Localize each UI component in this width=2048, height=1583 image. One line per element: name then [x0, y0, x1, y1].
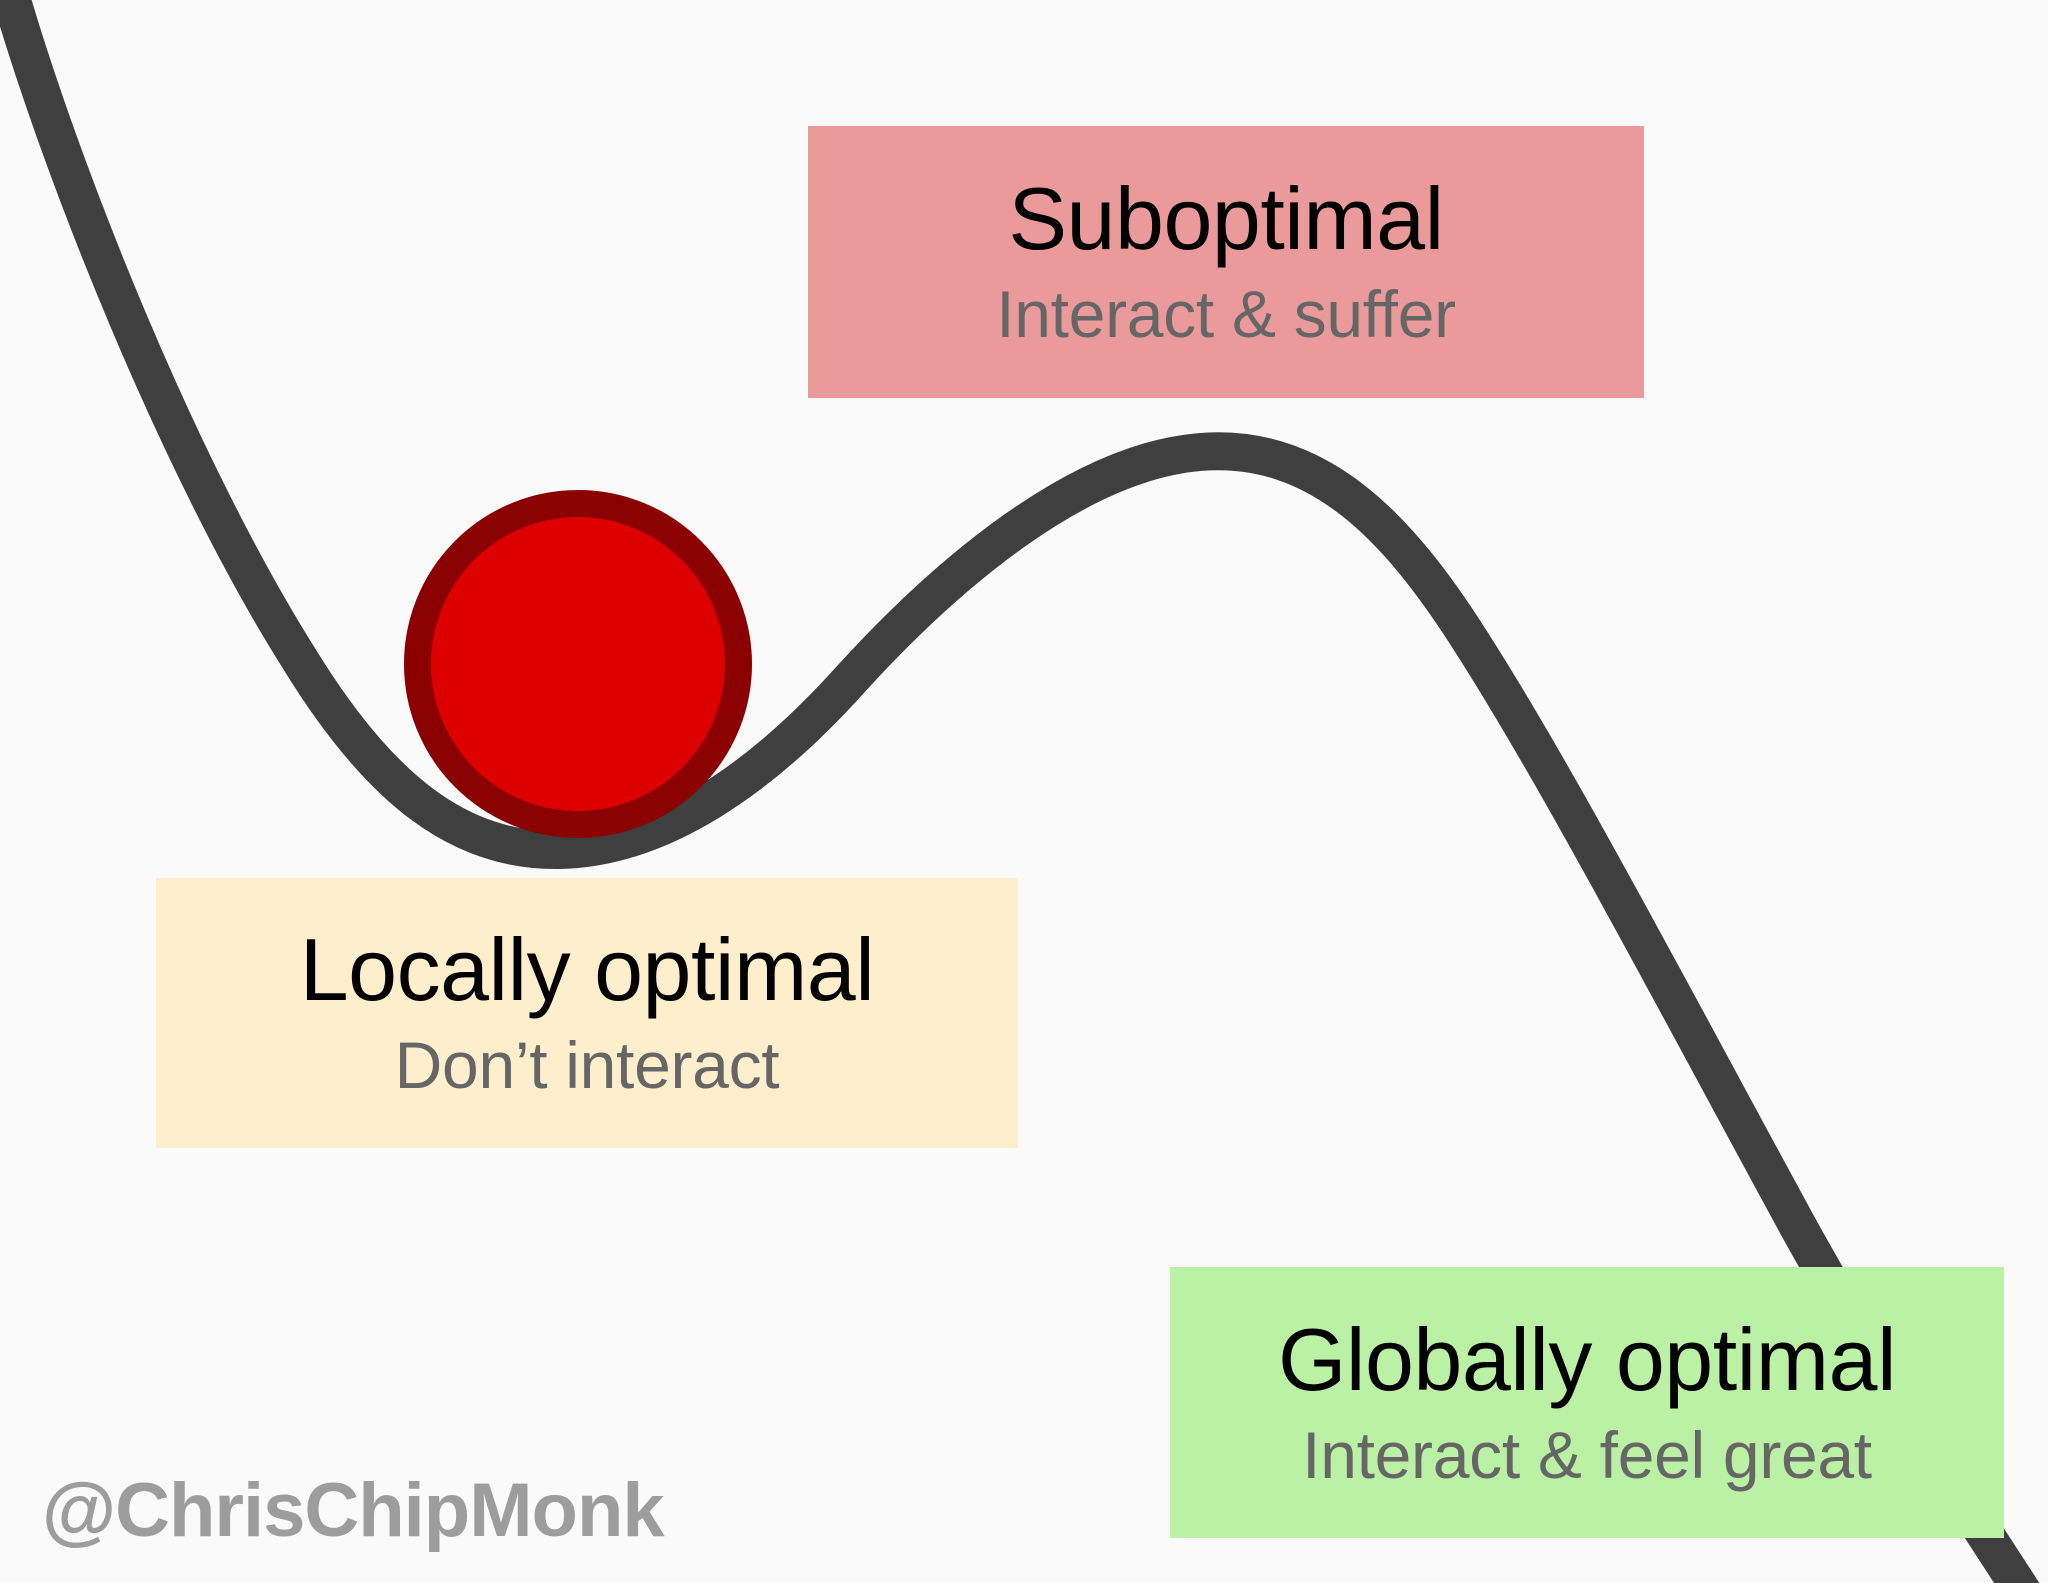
callout-locally-optimal-subtitle: Don’t interact: [395, 1031, 780, 1100]
callout-globally-optimal: Globally optimal Interact & feel great: [1170, 1267, 2004, 1538]
callout-locally-optimal-title: Locally optimal: [300, 925, 875, 1015]
author-watermark: @ChrisChipMonk: [42, 1467, 664, 1554]
figure-canvas: Suboptimal Interact & suffer Locally opt…: [0, 0, 2048, 1583]
callout-suboptimal-subtitle: Interact & suffer: [996, 280, 1456, 349]
callout-globally-optimal-subtitle: Interact & feel great: [1302, 1421, 1872, 1490]
red-ball-marker: [404, 490, 752, 838]
callout-globally-optimal-title: Globally optimal: [1278, 1315, 1896, 1405]
callout-suboptimal: Suboptimal Interact & suffer: [808, 126, 1644, 398]
callout-locally-optimal: Locally optimal Don’t interact: [156, 878, 1018, 1148]
callout-suboptimal-title: Suboptimal: [1008, 174, 1443, 264]
